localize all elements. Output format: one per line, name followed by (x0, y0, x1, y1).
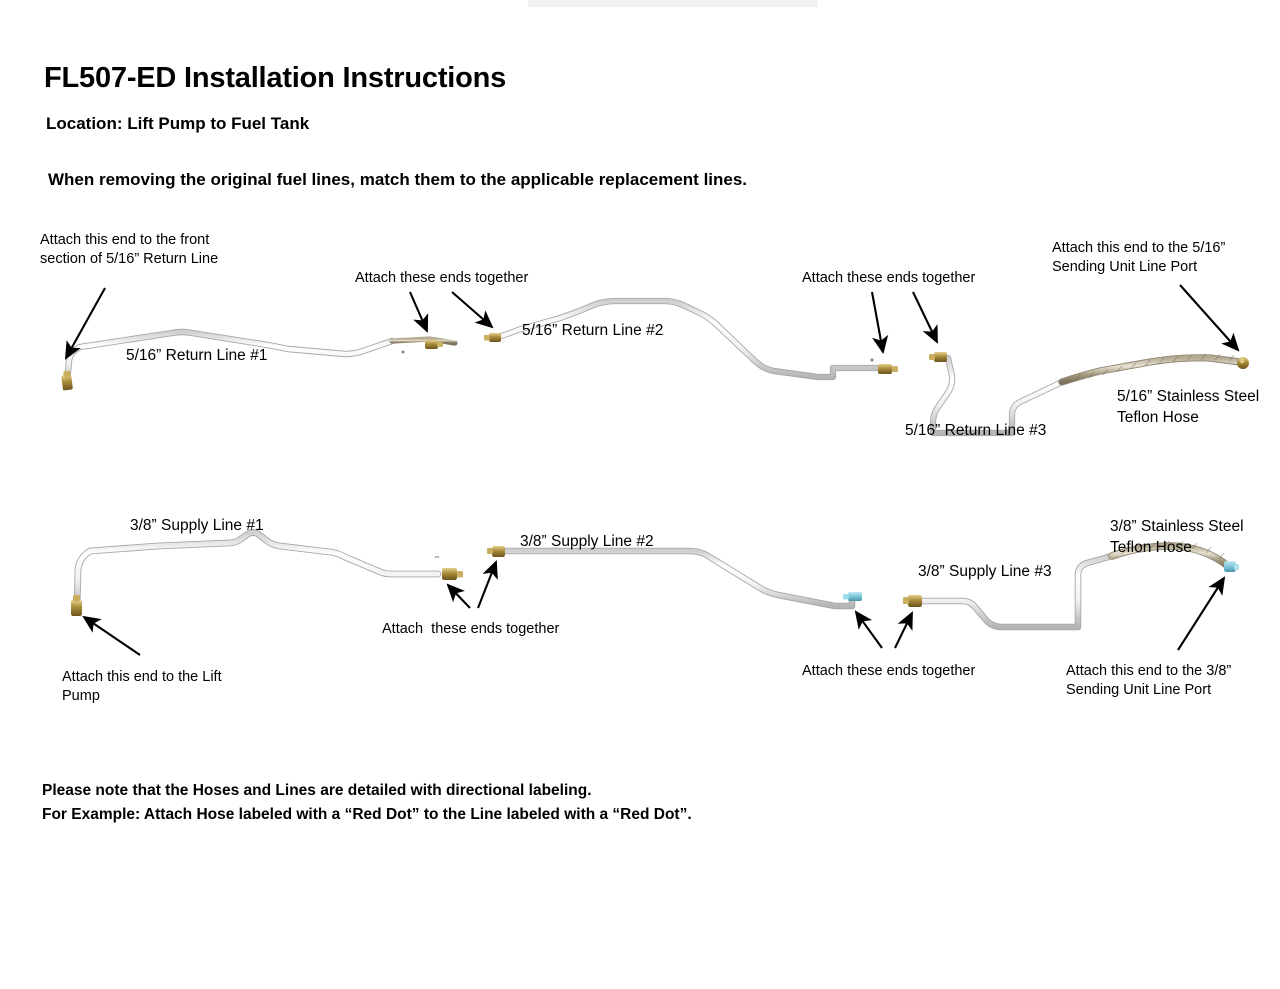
return-teflon-hose-part (1062, 354, 1249, 382)
label-supply-line-3: 3/8” Supply Line #3 (918, 561, 1052, 582)
arrow-return-join-1a (410, 292, 427, 331)
label-return-teflon-hose: 5/16” Stainless Steel Teflon Hose (1117, 386, 1259, 428)
arrow-return-join-2b (913, 292, 937, 342)
fitting-brass-return1-left (61, 371, 73, 391)
fitting-brass-supply1-left (71, 595, 82, 616)
callout-supply-lift-pump: Attach this end to the Lift Pump (62, 668, 222, 706)
callout-supply-sending-unit: Attach this end to the 3/8” Sending Unit… (1066, 662, 1231, 700)
arrow-supply-sending-unit (1178, 578, 1224, 650)
callout-return-join-2: Attach these ends together (802, 269, 975, 288)
arrow-supply-lift-pump (84, 617, 140, 655)
arrow-return-front-section (66, 288, 105, 358)
matching-instruction: When removing the original fuel lines, m… (48, 170, 747, 190)
footer-note-line-2: For Example: Attach Hose labeled with a … (42, 803, 692, 827)
braid-texture-return-hose (1075, 354, 1234, 381)
label-return-line-3: 5/16” Return Line #3 (905, 420, 1046, 441)
supply-line-1-part (71, 533, 463, 617)
arrow-supply-join-1b (478, 562, 496, 608)
callout-return-sending-unit: Attach this end to the 5/16” Sending Uni… (1052, 239, 1225, 277)
label-return-line-1: 5/16” Return Line #1 (126, 345, 267, 366)
fitting-brass-supply1-right (442, 568, 463, 580)
callout-return-join-1: Attach these ends together (355, 269, 528, 288)
arrow-supply-join-2b (895, 613, 912, 648)
label-return-line-2: 5/16” Return Line #2 (522, 320, 663, 341)
label-supply-line-2: 3/8” Supply Line #2 (520, 531, 654, 552)
footer-note: Please note that the Hoses and Lines are… (42, 779, 692, 827)
instruction-sheet-page: FL507-ED Installation Instructions Locat… (0, 0, 1280, 989)
fitting-brass-return1-right (425, 340, 443, 349)
arrow-return-sending-unit (1180, 285, 1238, 350)
fitting-brass-supply2-left (487, 546, 505, 557)
footer-note-line-1: Please note that the Hoses and Lines are… (42, 779, 692, 803)
page-title: FL507-ED Installation Instructions (44, 62, 506, 95)
arrow-return-join-1b (452, 292, 492, 327)
arrow-supply-join-1a (448, 585, 470, 608)
label-supply-line-1: 3/8” Supply Line #1 (130, 515, 264, 536)
fitting-teal-supply-hose-right (1224, 561, 1239, 572)
label-supply-teflon-hose: 3/8” Stainless Steel Teflon Hose (1110, 516, 1244, 558)
callout-supply-join-1: Attach these ends together (382, 620, 559, 639)
supply-line-2-part (487, 546, 862, 606)
fitting-brass-return3-left (929, 352, 947, 362)
callout-return-front-section: Attach this end to the front section of … (40, 231, 218, 269)
arrow-return-join-2a (872, 292, 883, 352)
fitting-brass-return-hose-right (1237, 357, 1249, 369)
fuel-line-diagram (0, 0, 1280, 989)
top-edge-strip (528, 0, 818, 7)
fitting-teal-supply2-right (843, 592, 862, 601)
callout-supply-join-2: Attach these ends together (802, 662, 975, 681)
fitting-brass-return2-left (484, 333, 501, 342)
arrow-supply-join-2a (856, 612, 882, 648)
location-subtitle: Location: Lift Pump to Fuel Tank (46, 114, 309, 134)
fitting-brass-supply3-left (903, 595, 922, 607)
fitting-brass-return2-right (878, 364, 898, 374)
